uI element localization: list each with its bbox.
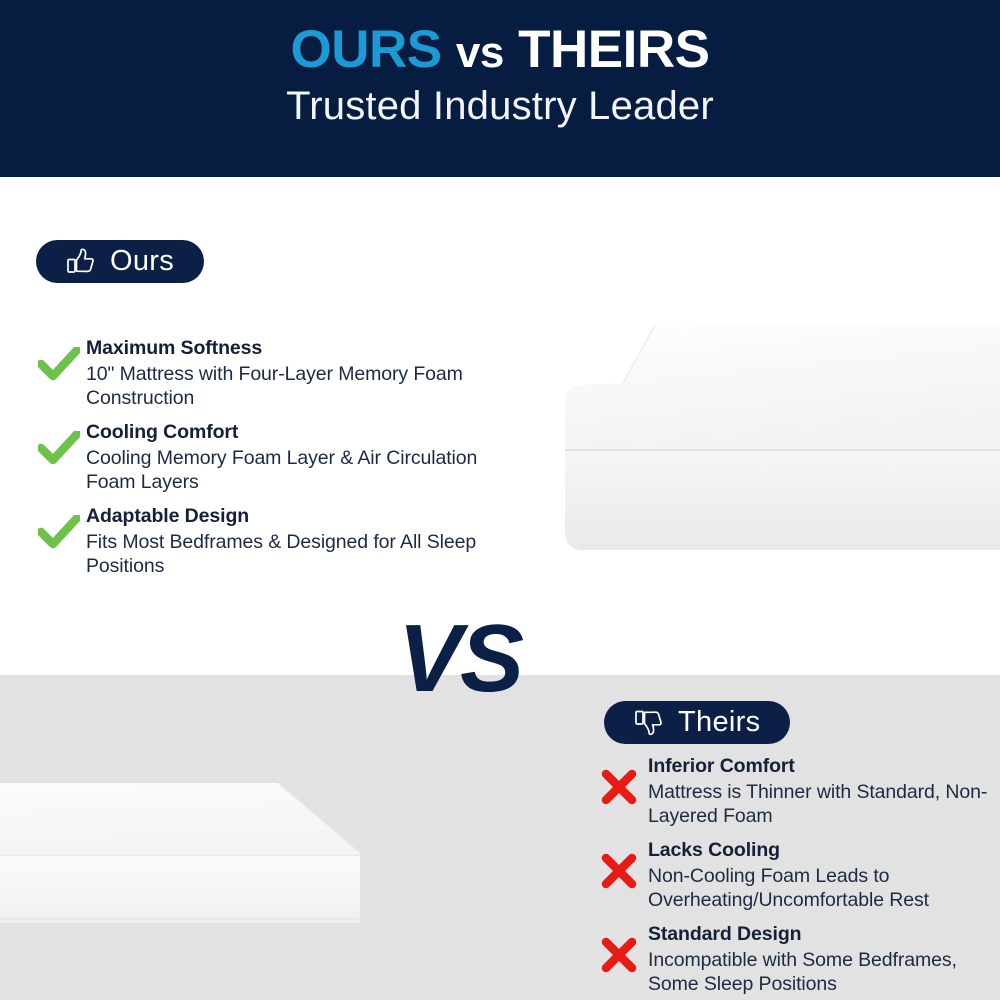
list-item-body: Cooling Comfort Cooling Memory Foam Laye…	[86, 421, 492, 494]
list-item-description: Fits Most Bedframes & Designed for All S…	[86, 530, 492, 578]
list-item-description: Cooling Memory Foam Layer & Air Circulat…	[86, 446, 492, 494]
check-icon	[32, 505, 86, 549]
list-item-body: Maximum Softness 10" Mattress with Four-…	[86, 337, 492, 410]
list-item-body: Adaptable Design Fits Most Bedframes & D…	[86, 505, 492, 578]
x-icon	[590, 923, 648, 973]
list-item: Adaptable Design Fits Most Bedframes & D…	[32, 505, 492, 578]
list-item-description: Mattress is Thinner with Standard, Non-L…	[648, 780, 1000, 828]
title-accent-ours: OURS	[291, 20, 442, 79]
ours-badge-label: Ours	[110, 247, 174, 276]
theirs-mattress-image	[0, 735, 480, 970]
check-icon	[32, 337, 86, 381]
check-icon	[32, 421, 86, 465]
thumbs-down-icon	[634, 708, 664, 737]
list-item-description: Incompatible with Some Bedframes, Some S…	[648, 948, 1000, 996]
thumbs-up-icon	[66, 247, 96, 276]
ours-mattress-image	[505, 300, 1000, 560]
list-item-title: Lacks Cooling	[648, 839, 1000, 863]
page-subtitle: Trusted Industry Leader	[0, 78, 1000, 129]
list-item-title: Maximum Softness	[86, 337, 492, 361]
vs-divider: VS	[398, 611, 522, 707]
list-item-body: Standard Design Incompatible with Some B…	[648, 923, 1000, 996]
list-item-description: 10" Mattress with Four-Layer Memory Foam…	[86, 362, 492, 410]
header-band: OURS vs THEIRS Trusted Industry Leader	[0, 0, 1000, 177]
list-item-title: Adaptable Design	[86, 505, 492, 529]
comparison-infographic: OURS vs THEIRS Trusted Industry Leader	[0, 0, 1000, 1000]
list-item-title: Cooling Comfort	[86, 421, 492, 445]
title-theirs: THEIRS	[518, 20, 709, 79]
list-item-body: Lacks Cooling Non-Cooling Foam Leads to …	[648, 839, 1000, 912]
ours-feature-list: Maximum Softness 10" Mattress with Four-…	[32, 337, 492, 589]
theirs-feature-list: Inferior Comfort Mattress is Thinner wit…	[590, 755, 1000, 1000]
ours-badge: Ours	[36, 240, 204, 283]
list-item: Inferior Comfort Mattress is Thinner wit…	[590, 755, 1000, 828]
list-item-title: Inferior Comfort	[648, 755, 1000, 779]
theirs-badge: Theirs	[604, 701, 790, 744]
x-icon	[590, 839, 648, 889]
list-item-body: Inferior Comfort Mattress is Thinner wit…	[648, 755, 1000, 828]
list-item: Maximum Softness 10" Mattress with Four-…	[32, 337, 492, 410]
theirs-badge-label: Theirs	[678, 708, 760, 737]
x-icon	[590, 755, 648, 805]
list-item: Lacks Cooling Non-Cooling Foam Leads to …	[590, 839, 1000, 912]
list-item: Standard Design Incompatible with Some B…	[590, 923, 1000, 996]
title-vs: vs	[456, 28, 504, 77]
page-title: OURS vs THEIRS	[0, 0, 1000, 78]
list-item-title: Standard Design	[648, 923, 1000, 947]
list-item: Cooling Comfort Cooling Memory Foam Laye…	[32, 421, 492, 494]
list-item-description: Non-Cooling Foam Leads to Overheating/Un…	[648, 864, 1000, 912]
